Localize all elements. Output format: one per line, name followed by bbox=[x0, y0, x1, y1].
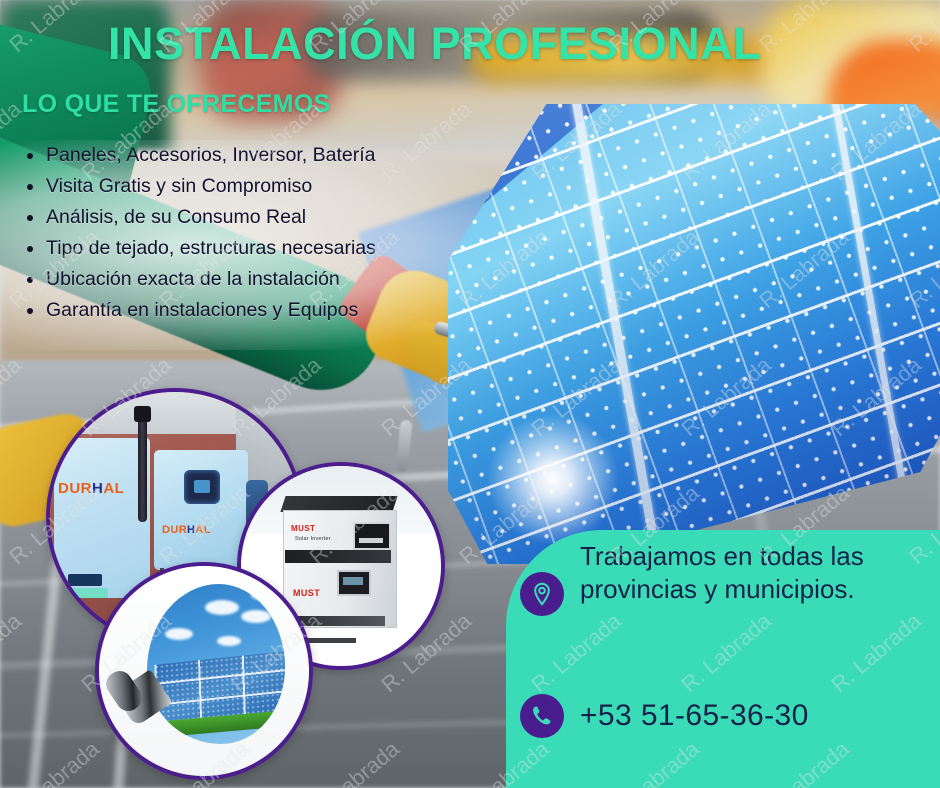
offer-item: Visita Gratis y sin Compromiso bbox=[18, 171, 488, 202]
brand-prefix: DUR bbox=[162, 524, 187, 536]
offer-item: Garantía en instalaciones y Equipos bbox=[18, 295, 488, 326]
bulb-glass-sky bbox=[147, 584, 285, 744]
offers-heading: LO QUE TE OFRECEMOS bbox=[22, 90, 331, 119]
phone-row[interactable]: +53 51-65-36-30 bbox=[520, 694, 809, 738]
brand-accent: H bbox=[92, 480, 103, 497]
offer-item: Tipo de tejado, estructuras necesarias bbox=[18, 233, 488, 264]
durhal-inverter-screen bbox=[184, 470, 220, 504]
durhal-inverter-brand-label: DURHAL bbox=[162, 524, 211, 536]
must-divider-band bbox=[285, 550, 391, 563]
page-title: INSTALACIÓN PROFESIONAL bbox=[108, 18, 761, 70]
map-pin-icon bbox=[520, 572, 564, 616]
brand-prefix: DUR bbox=[58, 480, 92, 497]
durhal-battery-brand-label: DURHAL bbox=[58, 480, 124, 497]
offer-item: Análisis, de su Consumo Real bbox=[18, 202, 488, 233]
phone-icon bbox=[520, 694, 564, 738]
phone-number[interactable]: +53 51-65-36-30 bbox=[580, 694, 809, 738]
offers-list: Paneles, Accesorios, Inversor, Batería V… bbox=[18, 140, 488, 326]
must-model-label: Solar Inverter bbox=[295, 536, 331, 542]
solar-installation-poster: INSTALACIÓN PROFESIONAL LO QUE TE OFRECE… bbox=[0, 0, 940, 788]
durhal-conduit bbox=[138, 412, 147, 522]
durhal-conduit-cap bbox=[134, 406, 151, 422]
offer-item: Ubicación exacta de la instalación bbox=[18, 264, 488, 295]
contact-card: Trabajamos en todas las provincias y mun… bbox=[506, 530, 940, 788]
bulb-cloud bbox=[165, 628, 193, 640]
bulb-cloud bbox=[205, 600, 239, 615]
bulb-cloud bbox=[217, 636, 241, 646]
brand-suffix: AL bbox=[195, 524, 210, 536]
coverage-row: Trabajamos en todas las provincias y mun… bbox=[520, 572, 940, 616]
bulb-cloud bbox=[241, 610, 271, 623]
must-brand-label-top: MUST bbox=[291, 524, 315, 533]
brand-suffix: AL bbox=[103, 480, 124, 497]
durhal-battery-display bbox=[68, 574, 102, 586]
offer-item: Paneles, Accesorios, Inversor, Batería bbox=[18, 140, 488, 171]
coverage-text: Trabajamos en todas las provincias y mun… bbox=[580, 540, 940, 606]
must-upper-display bbox=[353, 522, 391, 550]
must-lower-display bbox=[337, 570, 371, 596]
product-photo-solar-bulb bbox=[95, 562, 313, 780]
durhal-inverter-unit bbox=[154, 450, 248, 570]
bulb-cloud bbox=[251, 590, 273, 600]
